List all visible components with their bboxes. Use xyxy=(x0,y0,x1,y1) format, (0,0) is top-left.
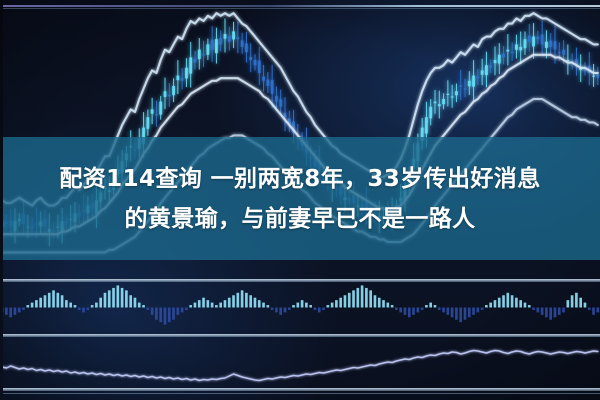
top-highlight-line xyxy=(0,5,600,7)
candle-body xyxy=(528,36,531,42)
macd-bar xyxy=(271,308,274,310)
candle-body xyxy=(254,60,257,65)
candle-body xyxy=(219,38,222,44)
macd-bar xyxy=(74,305,77,307)
headline-caption-band: 配资114查询 一别两宽8年，33岁传出好消息 的黄景瑜，与前妻早已不是一路人 xyxy=(0,137,600,260)
candle-body xyxy=(532,37,535,47)
macd-bar xyxy=(35,300,38,307)
headline-line-2: 的黄景瑜，与前妻早已不是一路人 xyxy=(125,199,476,239)
candle-body xyxy=(172,86,175,95)
candle-body xyxy=(168,95,171,97)
macd-bar xyxy=(48,293,51,308)
macd-bar xyxy=(554,308,557,318)
candle-body xyxy=(434,102,437,104)
candle-body xyxy=(596,74,599,78)
macd-bar xyxy=(442,308,445,313)
macd-bar xyxy=(56,293,59,308)
panel-separator-top xyxy=(0,279,600,282)
candle-body xyxy=(275,96,278,101)
macd-bar xyxy=(301,300,304,307)
macd-bar xyxy=(571,295,574,307)
macd-bar xyxy=(224,300,227,307)
macd-bar xyxy=(446,308,449,315)
candle-body xyxy=(258,61,261,73)
candle-body xyxy=(442,99,445,104)
macd-bar xyxy=(9,308,12,318)
macd-bar xyxy=(194,303,197,308)
candle-body xyxy=(506,50,509,52)
macd-bar xyxy=(26,305,29,307)
candle-body xyxy=(519,47,522,50)
macd-bar xyxy=(138,303,141,308)
panel-separator-bottom xyxy=(0,388,600,391)
macd-bar xyxy=(198,300,201,307)
macd-bar xyxy=(588,308,591,310)
macd-bar xyxy=(266,305,269,307)
candle-body xyxy=(498,55,501,64)
candle-body xyxy=(185,68,188,79)
candle-body xyxy=(189,57,192,73)
macd-bar xyxy=(22,308,25,310)
macd-bar xyxy=(331,303,334,308)
macd-bar xyxy=(69,303,72,308)
macd-bar xyxy=(451,308,454,318)
candle-body xyxy=(558,52,561,53)
macd-bar xyxy=(279,308,282,315)
candle-body xyxy=(425,117,428,133)
macd-bar xyxy=(112,288,115,308)
candle-body xyxy=(232,31,235,39)
macd-bar xyxy=(31,303,34,308)
macd-bar xyxy=(14,308,17,315)
headline-line-1: 配资114查询 一别两宽8年，33岁传出好消息 xyxy=(59,159,540,199)
macd-bar xyxy=(258,300,261,307)
candle-body xyxy=(155,114,158,115)
macd-bar xyxy=(151,308,154,315)
macd-bar xyxy=(284,308,287,313)
candle-body xyxy=(236,37,239,39)
macd-bar xyxy=(215,305,218,307)
macd-bar-series xyxy=(1,285,599,324)
macd-bar xyxy=(545,308,548,318)
macd-bar xyxy=(86,308,89,310)
candle-body xyxy=(455,91,458,95)
macd-bar xyxy=(168,308,171,323)
macd-bar xyxy=(314,308,317,310)
panel-separator-middle xyxy=(0,334,600,337)
candle-body xyxy=(211,40,214,50)
macd-bar xyxy=(408,308,411,318)
macd-bar xyxy=(352,290,355,307)
macd-bar xyxy=(536,308,539,313)
macd-bar xyxy=(108,290,111,307)
macd-bar xyxy=(434,305,437,307)
candle-body xyxy=(164,91,167,97)
candle-body xyxy=(206,44,209,54)
candle-body xyxy=(262,77,265,81)
candle-body xyxy=(224,34,227,39)
candle-body xyxy=(159,102,162,115)
macd-bar xyxy=(502,295,505,307)
macd-bar xyxy=(429,303,432,308)
macd-bar xyxy=(404,308,407,315)
macd-bar xyxy=(489,303,492,308)
macd-bar xyxy=(185,308,188,310)
macd-bar xyxy=(549,308,552,320)
macd-bar xyxy=(562,308,565,313)
macd-bar xyxy=(134,298,137,308)
macd-bar xyxy=(121,288,124,308)
macd-bar xyxy=(296,303,299,308)
macd-bar xyxy=(339,298,342,308)
macd-bar xyxy=(455,308,458,320)
candle-body xyxy=(515,44,518,49)
panel-separator-footer xyxy=(0,393,600,394)
candle-body xyxy=(476,77,479,78)
candle-body xyxy=(266,80,269,86)
macd-bar xyxy=(506,293,509,308)
candle-body xyxy=(271,80,274,94)
macd-bar xyxy=(356,288,359,308)
macd-bar xyxy=(528,305,531,307)
candle-body xyxy=(554,41,557,49)
macd-bar xyxy=(91,305,94,307)
macd-bar xyxy=(584,303,587,308)
macd-bar xyxy=(249,295,252,307)
macd-bar xyxy=(228,298,231,308)
macd-bar xyxy=(181,308,184,313)
candle-body xyxy=(472,76,475,87)
macd-bar xyxy=(438,308,441,310)
macd-bar xyxy=(485,305,488,307)
candle-body xyxy=(429,107,432,119)
macd-bar xyxy=(365,288,368,308)
macd-bar xyxy=(241,290,244,307)
macd-bar xyxy=(125,290,128,307)
left-edge-border xyxy=(0,0,3,400)
candle-body xyxy=(245,43,248,52)
macd-bar xyxy=(232,295,235,307)
candle-body xyxy=(464,88,467,89)
macd-bar xyxy=(382,300,385,307)
macd-bar xyxy=(309,305,312,307)
candle-body xyxy=(151,109,154,113)
macd-bar xyxy=(104,293,107,308)
macd-bar xyxy=(472,308,475,315)
macd-bar xyxy=(52,290,55,307)
macd-bar xyxy=(159,308,162,323)
candle-body xyxy=(549,41,552,47)
macd-bar xyxy=(82,308,85,313)
macd-bar xyxy=(305,303,308,308)
macd-bar xyxy=(459,308,462,323)
macd-bar xyxy=(369,290,372,307)
macd-bar xyxy=(254,298,257,308)
macd-bar xyxy=(116,285,119,307)
macd-bar xyxy=(219,303,222,308)
macd-bar xyxy=(65,300,68,307)
macd-bar xyxy=(476,308,479,313)
candle-body xyxy=(524,39,527,48)
macd-bar xyxy=(596,308,599,313)
macd-bar xyxy=(326,305,329,307)
candle-body xyxy=(438,104,441,106)
candle-body xyxy=(446,94,449,95)
macd-bar xyxy=(579,298,582,308)
candle-body xyxy=(459,85,462,86)
macd-bar xyxy=(391,305,394,307)
top-highlight-line-secondary xyxy=(0,8,600,9)
macd-bar xyxy=(164,308,167,325)
macd-bar xyxy=(416,308,419,313)
macd-bar xyxy=(511,295,514,307)
macd-bar xyxy=(202,298,205,308)
macd-bar xyxy=(39,298,42,308)
candle-body xyxy=(511,52,514,53)
macd-bar xyxy=(206,300,209,307)
macd-bar xyxy=(292,305,295,307)
macd-bar xyxy=(378,298,381,308)
macd-bar xyxy=(288,308,291,310)
macd-bar xyxy=(189,305,192,307)
macd-bar xyxy=(275,308,278,313)
candle-body xyxy=(228,36,231,41)
macd-bar xyxy=(142,305,145,307)
candle-body xyxy=(181,78,184,81)
macd-bar xyxy=(236,293,239,308)
macd-bar xyxy=(421,308,424,310)
candle-body xyxy=(562,50,565,55)
macd-bar xyxy=(425,305,428,307)
candle-body xyxy=(489,65,492,68)
macd-bar xyxy=(5,308,8,315)
candle-body xyxy=(536,37,539,40)
macd-bar xyxy=(348,293,351,308)
candle-body xyxy=(198,50,201,59)
candle-body xyxy=(592,76,595,77)
macd-bar xyxy=(592,308,595,315)
candle-body xyxy=(176,76,179,81)
macd-bar xyxy=(575,293,578,308)
macd-bar xyxy=(395,308,398,310)
macd-bar xyxy=(481,308,484,310)
candle-body xyxy=(279,99,282,107)
macd-bar xyxy=(532,308,535,310)
macd-bar xyxy=(494,300,497,307)
macd-bar xyxy=(99,298,102,308)
candle-body xyxy=(502,54,505,58)
candle-body xyxy=(481,70,484,74)
macd-bar xyxy=(515,298,518,308)
macd-bar xyxy=(344,295,347,307)
macd-bar xyxy=(262,303,265,308)
macd-bar xyxy=(464,308,467,320)
macd-bar xyxy=(95,303,98,308)
macd-bar xyxy=(172,308,175,320)
candle-body xyxy=(451,96,454,97)
candle-body xyxy=(146,117,149,129)
macd-bar xyxy=(129,295,132,307)
macd-bar xyxy=(498,298,501,308)
candle-body xyxy=(468,81,471,86)
macd-bar xyxy=(61,295,64,307)
indicator-trend-line xyxy=(2,351,598,381)
macd-bar xyxy=(519,300,522,307)
macd-bar xyxy=(78,308,81,310)
screenshot-root: 配资114查询 一别两宽8年，33岁传出好消息 的黄景瑜，与前妻早已不是一路人 xyxy=(0,0,600,400)
macd-bar xyxy=(541,308,544,315)
macd-bar xyxy=(558,308,561,315)
macd-histogram-panel xyxy=(0,281,600,334)
candle-body xyxy=(202,54,205,55)
macd-bar xyxy=(412,308,415,315)
macd-bar xyxy=(322,308,325,310)
candle-body xyxy=(485,65,488,75)
candle-body xyxy=(284,113,287,118)
candle-body xyxy=(541,35,544,45)
macd-bar xyxy=(318,308,321,313)
macd-bar xyxy=(245,293,248,308)
macd-bar xyxy=(335,300,338,307)
candle-body xyxy=(215,39,218,53)
macd-bar xyxy=(524,303,527,308)
macd-bar xyxy=(566,300,569,307)
macd-bar xyxy=(176,308,179,315)
macd-bar xyxy=(211,303,214,308)
macd-bar xyxy=(146,308,149,310)
macd-bar xyxy=(18,308,21,313)
candle-body xyxy=(494,60,497,63)
macd-bar xyxy=(374,295,377,307)
macd-bar xyxy=(44,295,47,307)
macd-bar xyxy=(361,285,364,307)
macd-bar xyxy=(386,303,389,308)
candle-body xyxy=(194,59,197,63)
candle-body xyxy=(241,40,244,47)
macd-bar xyxy=(399,308,402,313)
macd-bar xyxy=(468,308,471,318)
candle-body xyxy=(545,42,548,48)
candle-body xyxy=(249,57,252,60)
macd-bar xyxy=(155,308,158,320)
